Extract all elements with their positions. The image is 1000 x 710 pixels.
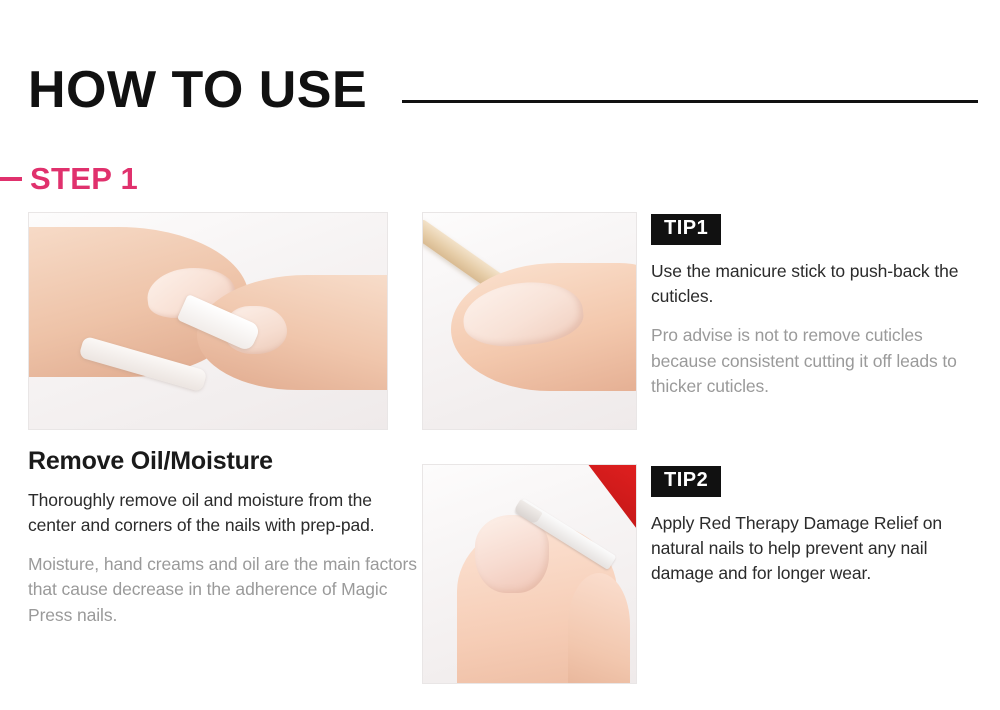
tip-badge-1: TIP1 [651, 214, 721, 245]
photo-prep-pad [28, 212, 388, 430]
tip-badge-2: TIP2 [651, 466, 721, 497]
photo-red-therapy [422, 464, 637, 684]
section-headline: Remove Oil/Moisture [28, 447, 420, 476]
section-note-text: Moisture, hand creams and oil are the ma… [28, 552, 420, 628]
tip-main-text-1: Use the manicure stick to push-back the … [651, 259, 991, 309]
tip-block-2: TIP2 Apply Red Therapy Damage Relief on … [651, 466, 991, 587]
step-indicator: STEP 1 [0, 163, 138, 194]
photo-manicure-stick [422, 212, 637, 430]
tip-block-1: TIP1 Use the manicure stick to push-back… [651, 214, 991, 399]
thumb-shape [568, 573, 630, 684]
step-dash-icon [0, 177, 22, 181]
page-title: HOW TO USE [28, 64, 367, 116]
title-divider [402, 100, 978, 103]
section-body-text: Thoroughly remove oil and moisture from … [28, 488, 420, 538]
remove-oil-moisture-block: Remove Oil/Moisture Thoroughly remove oi… [28, 447, 420, 628]
tip-main-text-2: Apply Red Therapy Damage Relief on natur… [651, 511, 991, 587]
tip-note-text-1: Pro advise is not to remove cuticles bec… [651, 323, 991, 399]
step-label: STEP 1 [30, 163, 138, 194]
